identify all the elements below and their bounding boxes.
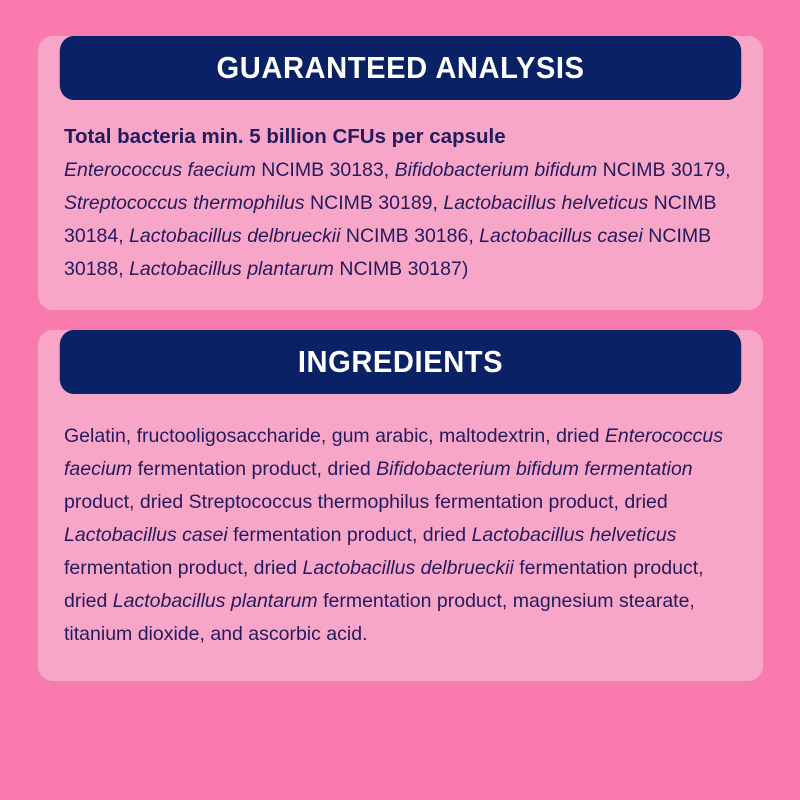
ingredients-header: INGREDIENTS [60,330,742,394]
total-bacteria-heading: Total bacteria min. 5 billion CFUs per c… [64,120,737,153]
guaranteed-analysis-strain-list: Enterococcus faecium NCIMB 30183, Bifido… [64,154,737,286]
text-segment: Lactobacillus delbrueckii [302,557,513,579]
text-segment: Lactobacillus helveticus [472,524,677,546]
guaranteed-analysis-panel: GUARANTEED ANALYSIS Total bacteria min. … [38,36,763,310]
text-segment: Bifidobacterium bifidum fermentation [376,458,693,480]
text-segment: fermentation product, dried [64,557,302,579]
text-segment: NCIMB 30187) [334,258,468,280]
text-segment: NCIMB 30183, [256,159,395,181]
text-segment: Enterococcus faecium [64,159,256,181]
text-segment: Gelatin, fructooligosaccharide, gum arab… [64,425,605,447]
guaranteed-analysis-header: GUARANTEED ANALYSIS [60,36,742,100]
text-segment: Streptococcus thermophilus [64,192,305,214]
text-segment: NCIMB 30189, [305,192,444,214]
text-segment: Lactobacillus helveticus [443,192,648,214]
text-segment: Bifidobacterium bifidum [395,159,598,181]
text-segment: fermentation product, dried [132,458,376,480]
text-segment: NCIMB 30186, [340,225,479,247]
text-segment: Lactobacillus delbrueckii [129,225,340,247]
text-segment: fermentation product, dried [228,524,472,546]
guaranteed-analysis-body: Total bacteria min. 5 billion CFUs per c… [38,100,763,310]
text-segment: Lactobacillus casei [479,225,643,247]
supplement-label-sheet: GUARANTEED ANALYSIS Total bacteria min. … [0,0,800,800]
text-segment: Lactobacillus plantarum [113,590,318,612]
text-segment: Lactobacillus plantarum [129,258,334,280]
ingredients-list: Gelatin, fructooligosaccharide, gum arab… [64,420,737,651]
text-segment: Lactobacillus casei [64,524,228,546]
text-segment: product, dried Streptococcus thermophilu… [64,491,668,513]
ingredients-body: Gelatin, fructooligosaccharide, gum arab… [38,394,763,681]
text-segment: NCIMB 30179, [597,159,730,181]
ingredients-panel: INGREDIENTS Gelatin, fructooligosacchari… [38,330,763,681]
